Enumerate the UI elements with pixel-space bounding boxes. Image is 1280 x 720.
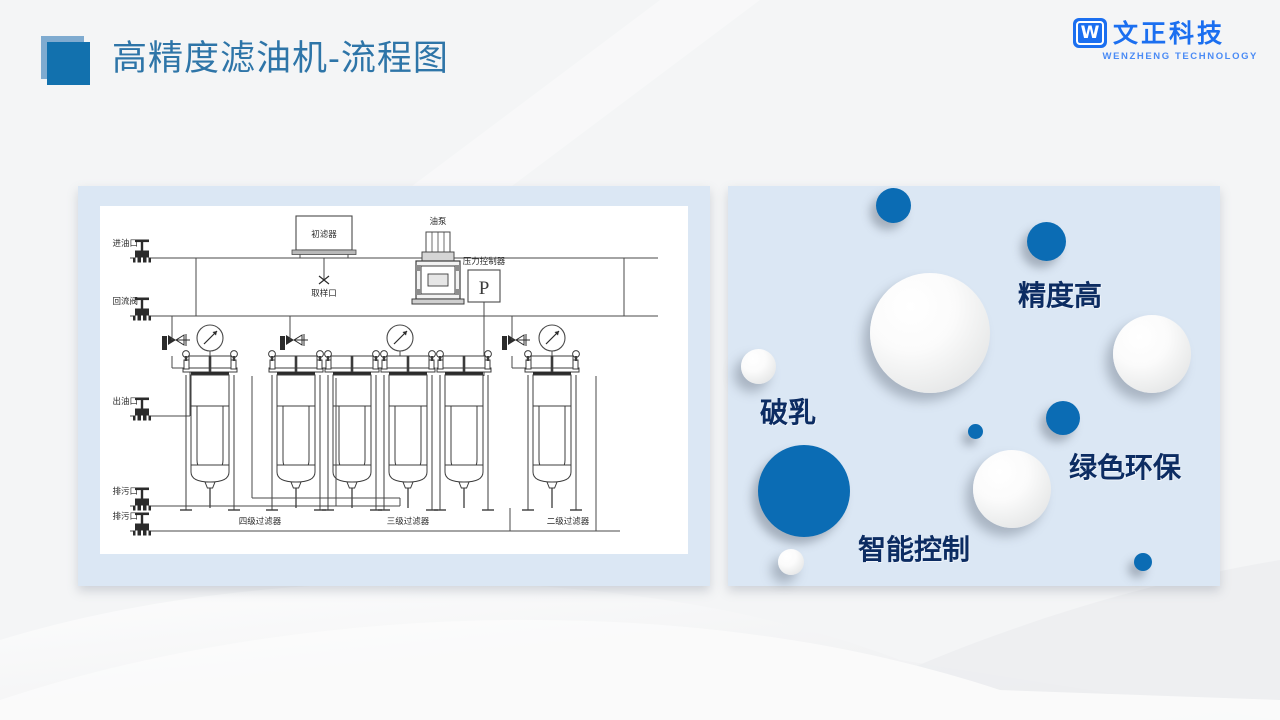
label-inlet: 进油口 <box>112 238 138 249</box>
process-diagram-panel: P 进油口 回流阀 出油口 排污口 排污口 <box>78 186 710 586</box>
filter-vessel <box>434 351 494 510</box>
feature-label-intelligent-control: 智能控制 <box>858 528 970 568</box>
company-logo: W 文正科技 WENZHENG TECHNOLOGY <box>1073 18 1258 66</box>
pressure-controller-symbol: P <box>468 270 500 302</box>
control-valve-stage2 <box>502 334 530 350</box>
label-pressure-controller: 压力控制器 <box>463 256 506 267</box>
pressure-symbol-text: P <box>479 278 490 299</box>
logo-chinese-name: 文正科技 <box>1113 21 1225 46</box>
control-valve-stage4 <box>162 334 190 350</box>
features-panel <box>728 186 1220 586</box>
label-drain-2: 排污口 <box>112 511 138 522</box>
label-oil-pump: 油泵 <box>429 216 447 227</box>
process-diagram-canvas: P 进油口 回流阀 出油口 排污口 排污口 <box>100 206 688 554</box>
filter-vessel <box>266 351 326 510</box>
label-outlet: 出油口 <box>112 396 138 407</box>
label-stage4-filter: 四级过滤器 <box>239 516 282 527</box>
label-drain-1: 排污口 <box>112 486 138 497</box>
logo-w-icon: W <box>1073 18 1107 48</box>
feature-label-demulsification: 破乳 <box>760 391 816 431</box>
label-sampling-port: 取样口 <box>311 288 337 299</box>
page-title: 高精度滤油机-流程图 <box>112 36 449 82</box>
pressure-gauge-1 <box>197 325 223 360</box>
filter-vessel <box>378 351 438 510</box>
pressure-gauge-3 <box>539 325 565 360</box>
label-stage3-filter: 三级过滤器 <box>387 516 430 527</box>
label-return-valve: 回流阀 <box>112 296 138 307</box>
control-valve-stage3 <box>280 334 308 350</box>
label-prefilter: 初滤器 <box>311 229 337 240</box>
filter-vessel <box>180 351 240 510</box>
feature-label-high-precision: 精度高 <box>1018 274 1102 314</box>
title-accent-square <box>47 42 90 85</box>
label-stage2-filter: 二级过滤器 <box>547 516 590 527</box>
feature-label-green-environmental: 绿色环保 <box>1069 446 1181 486</box>
process-flow-diagram: P 进油口 回流阀 出油口 排污口 排污口 <box>100 206 688 554</box>
filter-vessel <box>322 351 382 510</box>
logo-w-glyph: W <box>1076 21 1104 45</box>
oil-pump-symbol <box>412 232 464 304</box>
page-header: 高精度滤油机-流程图 W 文正科技 WENZHENG TECHNOLOGY <box>0 0 1280 110</box>
logo-english-name: WENZHENG TECHNOLOGY <box>1073 51 1258 62</box>
pressure-gauge-2 <box>387 325 413 360</box>
filter-vessel <box>522 351 582 510</box>
